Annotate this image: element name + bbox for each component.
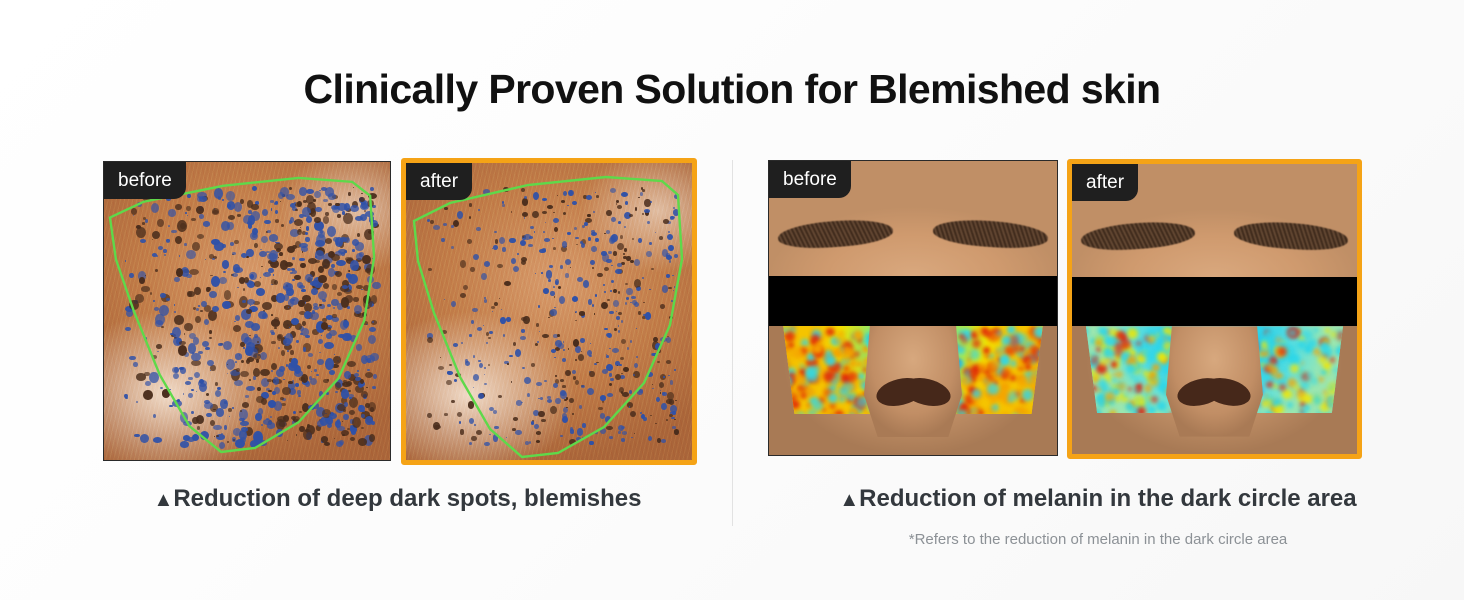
image-before-skin-macro-content (104, 162, 390, 460)
dark-spot-layer-before (104, 162, 390, 460)
eyebrow-left (777, 217, 894, 251)
footnote-melanin: *Refers to the reduction of melanin in t… (732, 531, 1464, 548)
badge-before: before (104, 162, 186, 199)
caption-melanin-dark-circle: ▲Reduction of melanin in the dark circle… (732, 485, 1464, 513)
image-after-skin-macro-content (406, 163, 692, 460)
triangle-marker-icon: ▲ (154, 489, 174, 511)
image-after-melanin-map[interactable]: after (1067, 159, 1362, 459)
eyebrow-left (1080, 219, 1196, 253)
image-after-melanin-map-content (1072, 164, 1357, 454)
caption-deep-dark-spots: ▲Reduction of deep dark spots, blemishes (0, 485, 795, 513)
eyebrow-right (1234, 219, 1350, 253)
eyebrow-right (932, 217, 1049, 251)
face-photo (1072, 164, 1357, 454)
badge-before: before (769, 161, 851, 198)
badge-after: after (1072, 164, 1138, 201)
caption-melanin-dark-circle-text: Reduction of melanin in the dark circle … (859, 485, 1356, 512)
image-before-skin-macro[interactable]: before (103, 161, 391, 461)
image-before-melanin-map[interactable]: before (768, 160, 1058, 456)
image-after-skin-macro[interactable]: after (401, 158, 697, 465)
eye-censor-bar (1072, 277, 1357, 326)
face-photo (769, 161, 1057, 455)
badge-after: after (406, 163, 472, 200)
caption-deep-dark-spots-text: Reduction of deep dark spots, blemishes (173, 485, 641, 512)
eye-censor-bar (769, 276, 1057, 326)
dark-spot-layer-after (406, 163, 692, 460)
image-before-melanin-map-content (769, 161, 1057, 455)
triangle-marker-icon: ▲ (839, 489, 859, 511)
panel-divider (732, 160, 733, 526)
page-title: Clinically Proven Solution for Blemished… (0, 66, 1464, 113)
